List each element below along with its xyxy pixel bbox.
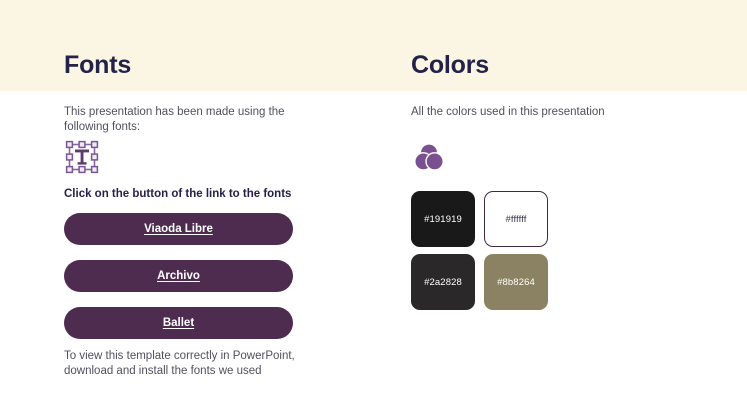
fonts-cta-label: Click on the button of the link to the f… xyxy=(64,187,324,202)
text-tool-icon xyxy=(64,139,100,175)
color-swatch-2a2828[interactable]: #2a2828 xyxy=(411,254,475,310)
color-swatch-ffffff[interactable]: #ffffff xyxy=(484,191,548,247)
slide-canvas: Fonts This presentation has been made us… xyxy=(0,0,747,420)
colors-intro-text: All the colors used in this presentation xyxy=(411,105,671,120)
font-link-button-archivo[interactable]: Archivo xyxy=(64,260,293,292)
font-link-button-ballet[interactable]: Ballet xyxy=(64,307,293,339)
color-swatch-191919[interactable]: #191919 xyxy=(411,191,475,247)
colors-section-title: Colors xyxy=(411,50,489,80)
color-swatch-grid: #191919 #ffffff #2a2828 #8b8264 xyxy=(411,191,548,310)
fonts-intro-text: This presentation has been made using th… xyxy=(64,105,312,135)
color-swatch-8b8264[interactable]: #8b8264 xyxy=(484,254,548,310)
color-palette-icon xyxy=(412,140,446,174)
fonts-footnote-text: To view this template correctly in Power… xyxy=(64,349,324,379)
fonts-section-title: Fonts xyxy=(64,50,131,80)
font-link-button-group: Viaoda Libre Archivo Ballet xyxy=(64,213,293,339)
font-link-button-viaoda-libre[interactable]: Viaoda Libre xyxy=(64,213,293,245)
